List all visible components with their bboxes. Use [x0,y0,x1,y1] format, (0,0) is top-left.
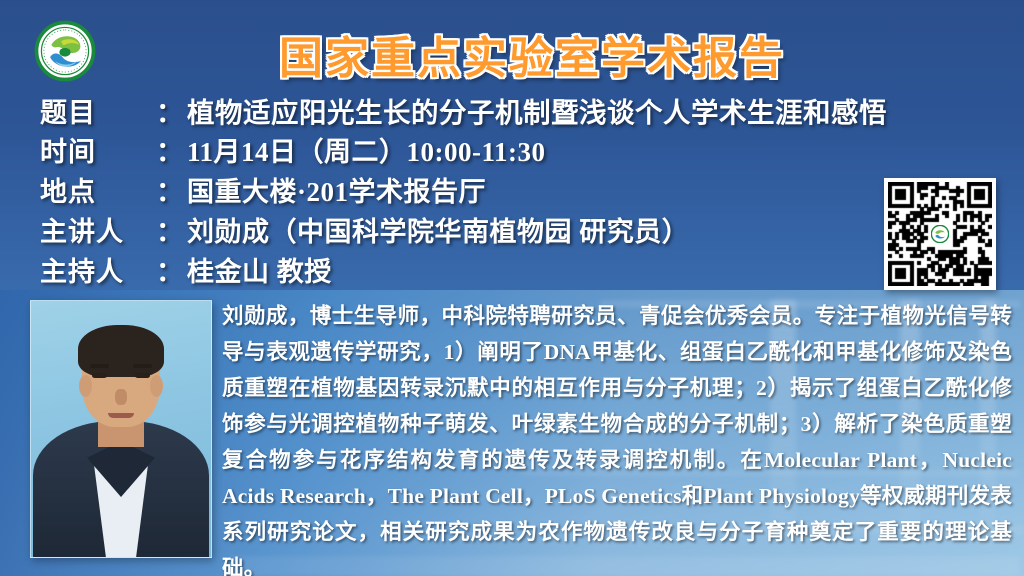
host-colon: ： [156,250,183,289]
location-colon: ： [156,170,183,209]
info-block: 题目： 植物适应阳光生长的分子机制暨浅谈个人学术生涯和感悟 时间： 11月14日… [40,90,980,290]
speaker-bio-name: 刘勋成 [222,304,288,328]
seminar-poster: 国家重点实验室学术报告 题目： 植物适应阳光生长的分子机制暨浅谈个人学术生涯和感… [0,0,1024,576]
speaker-value: 刘勋成（中国科学院华南植物园 研究员） [187,210,689,249]
speaker-bio-text: ，博士生导师，中科院特聘研究员、青促会优秀会员。专注于植物光信号转导与表观遗传学… [222,304,1012,576]
info-row-host: 主持人： 桂金山 教授 [40,250,980,290]
info-row-speaker: 主讲人： 刘勋成（中国科学院华南植物园 研究员） [40,210,980,250]
time-label: 时间 [40,130,156,169]
info-row-location: 地点： 国重大楼·201学术报告厅 [40,170,980,210]
portrait-eyebrow-right [133,364,152,368]
portrait-eyebrow-left [90,364,109,368]
portrait-ear-left [79,375,92,397]
poster-header: 国家重点实验室学术报告 [0,8,1024,86]
location-value: 国重大楼·201学术报告厅 [187,170,486,209]
topic-label: 题目 [40,91,156,130]
speaker-label: 主讲人 [40,210,156,249]
location-label: 地点 [40,170,156,209]
portrait-hair [78,325,164,377]
topic-colon: ： [156,91,183,130]
time-colon: ： [156,130,183,169]
info-row-topic: 题目： 植物适应阳光生长的分子机制暨浅谈个人学术生涯和感悟 [40,90,980,130]
speaker-portrait [30,300,212,558]
time-value: 11月14日（周二）10:00-11:30 [187,130,546,169]
page-title: 国家重点实验室学术报告 [0,22,1024,86]
portrait-eye-left [92,373,107,378]
portrait-mouth [108,413,134,418]
speaker-colon: ： [156,210,183,249]
info-row-time: 时间： 11月14日（周二）10:00-11:30 [40,130,980,170]
speaker-bio: 刘勋成，博士生导师，中科院特聘研究员、青促会优秀会员。专注于植物光信号转导与表观… [222,298,1012,576]
host-value: 桂金山 教授 [187,250,332,289]
host-label: 主持人 [40,250,156,289]
portrait-nose [115,389,127,405]
qr-code[interactable] [884,178,996,290]
portrait-ear-right [150,375,163,397]
portrait-eye-right [135,373,150,378]
topic-value: 植物适应阳光生长的分子机制暨浅谈个人学术生涯和感悟 [187,90,887,130]
qr-center-emblem-icon [929,223,951,245]
